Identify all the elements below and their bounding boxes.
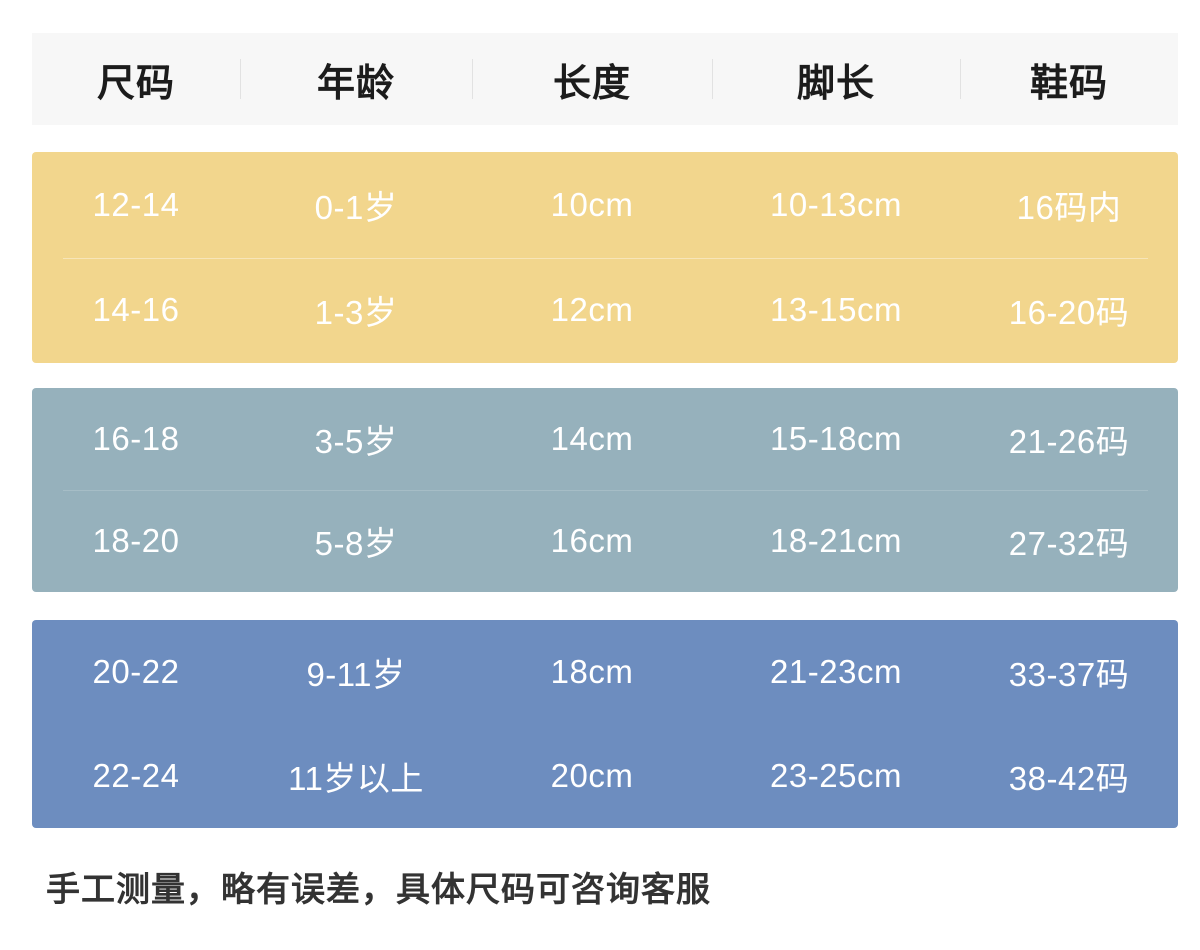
- cell-age: 3-5岁: [240, 415, 472, 463]
- cell-size: 20-22: [32, 653, 240, 691]
- cell-length: 18cm: [472, 653, 712, 691]
- cell-shoe-size: 21-26码: [960, 415, 1178, 463]
- size-group-blue: 20-22 9-11岁 18cm 21-23cm 33-37码 22-24 11…: [32, 620, 1178, 828]
- column-header-label: 尺码: [97, 52, 175, 107]
- column-header-label: 鞋码: [1030, 52, 1108, 107]
- cell-foot-length: 21-23cm: [712, 653, 960, 691]
- cell-shoe-size: 16码内: [960, 181, 1178, 229]
- column-header-label: 年龄: [317, 52, 395, 107]
- column-header-size: 尺码: [32, 33, 240, 125]
- cell-age: 0-1岁: [240, 181, 472, 229]
- cell-shoe-size: 38-42码: [960, 752, 1178, 800]
- column-header-length: 长度: [472, 33, 712, 125]
- column-header-label: 长度: [553, 52, 631, 107]
- column-header-foot-length: 脚长: [712, 33, 960, 125]
- cell-foot-length: 13-15cm: [712, 291, 960, 329]
- size-group-yellow: 12-14 0-1岁 10cm 10-13cm 16码内 14-16 1-3岁 …: [32, 152, 1178, 363]
- cell-age: 5-8岁: [240, 517, 472, 565]
- cell-size: 22-24: [32, 757, 240, 795]
- cell-length: 20cm: [472, 757, 712, 795]
- column-header-label: 脚长: [797, 52, 875, 107]
- table-row: 14-16 1-3岁 12cm 13-15cm 16-20码: [32, 258, 1178, 364]
- column-header-shoe-size: 鞋码: [960, 33, 1178, 125]
- measurement-note: 手工测量，略有误差，具体尺码可咨询客服: [46, 862, 711, 911]
- table-row: 16-18 3-5岁 14cm 15-18cm 21-26码: [32, 388, 1178, 490]
- cell-foot-length: 23-25cm: [712, 757, 960, 795]
- cell-shoe-size: 33-37码: [960, 648, 1178, 696]
- cell-size: 16-18: [32, 420, 240, 458]
- cell-shoe-size: 16-20码: [960, 286, 1178, 334]
- cell-foot-length: 18-21cm: [712, 522, 960, 560]
- table-row: 22-24 11岁以上 20cm 23-25cm 38-42码: [32, 724, 1178, 828]
- table-row: 18-20 5-8岁 16cm 18-21cm 27-32码: [32, 490, 1178, 592]
- cell-size: 12-14: [32, 186, 240, 224]
- column-header-age: 年龄: [240, 33, 472, 125]
- cell-foot-length: 10-13cm: [712, 186, 960, 224]
- cell-length: 16cm: [472, 522, 712, 560]
- cell-age: 1-3岁: [240, 286, 472, 334]
- size-chart: 尺码 年龄 长度 脚长 鞋码 12-14 0-1岁 10cm 10-13cm 1…: [0, 0, 1200, 950]
- cell-age: 9-11岁: [240, 648, 472, 696]
- cell-size: 14-16: [32, 291, 240, 329]
- cell-age: 11岁以上: [240, 752, 472, 800]
- cell-foot-length: 15-18cm: [712, 420, 960, 458]
- cell-length: 14cm: [472, 420, 712, 458]
- cell-length: 12cm: [472, 291, 712, 329]
- cell-length: 10cm: [472, 186, 712, 224]
- table-row: 12-14 0-1岁 10cm 10-13cm 16码内: [32, 152, 1178, 258]
- size-group-grey-blue: 16-18 3-5岁 14cm 15-18cm 21-26码 18-20 5-8…: [32, 388, 1178, 592]
- table-header-row: 尺码 年龄 长度 脚长 鞋码: [32, 33, 1178, 125]
- cell-size: 18-20: [32, 522, 240, 560]
- cell-shoe-size: 27-32码: [960, 517, 1178, 565]
- table-row: 20-22 9-11岁 18cm 21-23cm 33-37码: [32, 620, 1178, 724]
